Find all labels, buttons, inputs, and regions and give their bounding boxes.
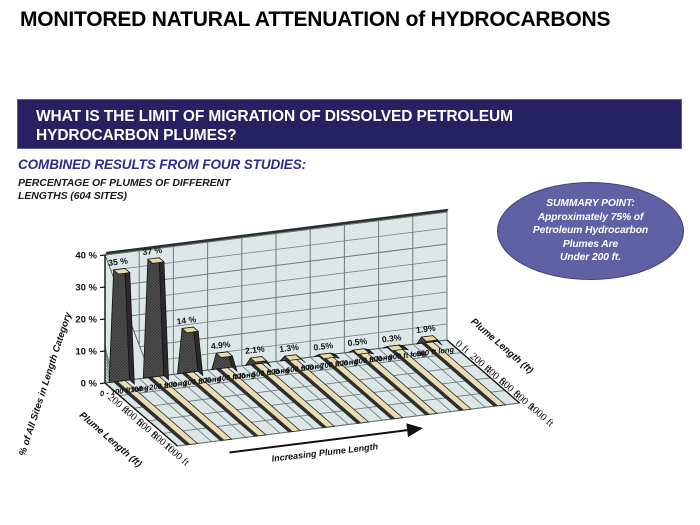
plume-length-3d-bar-chart: 35 %37 %14 %4.9%2.1%1.3%0.5%0.5%0.3%1.9%…	[0, 185, 700, 485]
chart-canvas: 35 %37 %14 %4.9%2.1%1.3%0.5%0.5%0.3%1.9%…	[0, 185, 700, 485]
banner-line-2: HYDROCARBON PLUMES?	[36, 127, 236, 144]
question-banner: WHAT IS THE LIMIT OF MIGRATION OF DISSOL…	[17, 99, 682, 149]
y-tick-0: 0 %	[81, 379, 98, 390]
page-title: MONITORED NATURAL ATTENUATION of HYDROCA…	[20, 8, 685, 32]
slide-root: MONITORED NATURAL ATTENUATION of HYDROCA…	[0, 0, 700, 525]
y-tick-1: 10 %	[75, 347, 97, 358]
y-axis-title: % of All Sites in Length Category	[17, 310, 74, 457]
banner-line-1: WHAT IS THE LIMIT OF MIGRATION OF DISSOL…	[36, 108, 513, 125]
y-tick-2: 20 %	[75, 315, 97, 326]
y-tick-4: 40 %	[75, 251, 97, 262]
y-tick-3: 30 %	[75, 283, 97, 294]
banner-text: WHAT IS THE LIMIT OF MIGRATION OF DISSOL…	[36, 107, 666, 145]
subheading-primary: COMBINED RESULTS FROM FOUR STUDIES:	[18, 157, 306, 172]
depth-tick-right-5: 1000 ft	[526, 401, 556, 429]
